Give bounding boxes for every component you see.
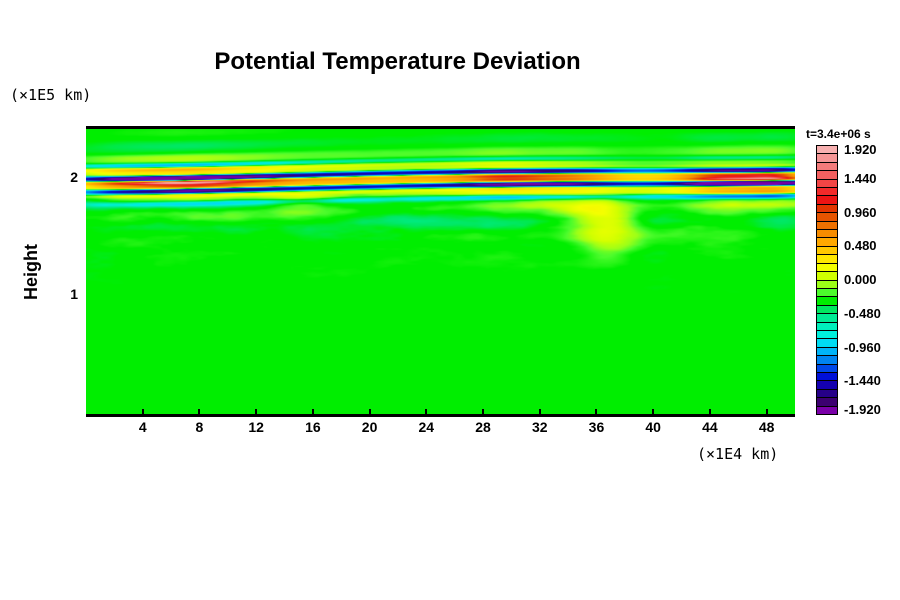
colorbar-band [817,264,837,272]
colorbar-band [817,323,837,331]
x-tick-mark [482,409,484,414]
y-axis-unit-label: (×1E5 km) [10,86,91,104]
x-tick-label: 24 [409,419,443,435]
colorbar-tick-label: 1.920 [844,142,877,157]
colorbar-band [817,154,837,162]
colorbar-band [817,398,837,406]
colorbar-band [817,407,837,414]
colorbar-tick-label: -1.440 [844,373,881,388]
x-tick-mark [709,409,711,414]
x-tick-label: 4 [126,419,160,435]
colorbar-band [817,213,837,221]
x-tick-label: 28 [466,419,500,435]
x-tick-label: 8 [182,419,216,435]
colorbar-band [817,222,837,230]
colorbar-band [817,180,837,188]
x-axis-unit-label: (×1E4 km) [697,445,778,463]
colorbar-strip [816,145,838,415]
colorbar-band [817,247,837,255]
x-tick-label: 40 [636,419,670,435]
x-tick-mark [652,409,654,414]
temperature-deviation-field [86,129,795,414]
x-tick-mark [595,409,597,414]
colorbar-band [817,339,837,347]
x-tick-mark [312,409,314,414]
x-tick-mark [425,409,427,414]
colorbar-tick-label: 1.440 [844,171,877,186]
colorbar-band [817,205,837,213]
x-tick-label: 32 [523,419,557,435]
colorbar-band [817,306,837,314]
colorbar-tick-label: 0.960 [844,205,877,220]
y-tick-label: 1 [60,286,78,302]
colorbar-band [817,163,837,171]
x-tick-mark [766,409,768,414]
colorbar-band [817,356,837,364]
colorbar-band [817,238,837,246]
x-tick-label: 36 [579,419,613,435]
colorbar-band [817,381,837,389]
colorbar-band [817,314,837,322]
colorbar-band [817,348,837,356]
colorbar-band [817,365,837,373]
colorbar-time-title: t=3.4e+06 s [806,127,871,141]
colorbar-band [817,390,837,398]
colorbar-tick-label: -0.480 [844,306,881,321]
x-tick-mark [255,409,257,414]
page-title: Potential Temperature Deviation [0,48,795,76]
colorbar-tick-label: -1.920 [844,402,881,417]
colorbar-band [817,188,837,196]
x-tick-label: 48 [750,419,784,435]
colorbar-band [817,331,837,339]
x-tick-mark [369,409,371,414]
x-tick-label: 16 [296,419,330,435]
colorbar-tick-label: 0.000 [844,272,877,287]
colorbar-band [817,255,837,263]
x-tick-mark [142,409,144,414]
x-tick-label: 20 [353,419,387,435]
heatmap-plot-area [86,126,795,417]
x-tick-mark [539,409,541,414]
colorbar-band [817,281,837,289]
colorbar-band [817,272,837,280]
y-tick-label: 2 [60,169,78,185]
colorbar-band [817,230,837,238]
colorbar-band [817,196,837,204]
x-tick-label: 12 [239,419,273,435]
colorbar-tick-label: 0.480 [844,238,877,253]
colorbar-band [817,297,837,305]
colorbar-band [817,171,837,179]
colorbar-band [817,146,837,154]
y-axis-title: Height [21,232,42,312]
x-tick-mark [198,409,200,414]
colorbar-tick-label: -0.960 [844,340,881,355]
colorbar-band [817,289,837,297]
colorbar-band [817,373,837,381]
x-tick-label: 44 [693,419,727,435]
